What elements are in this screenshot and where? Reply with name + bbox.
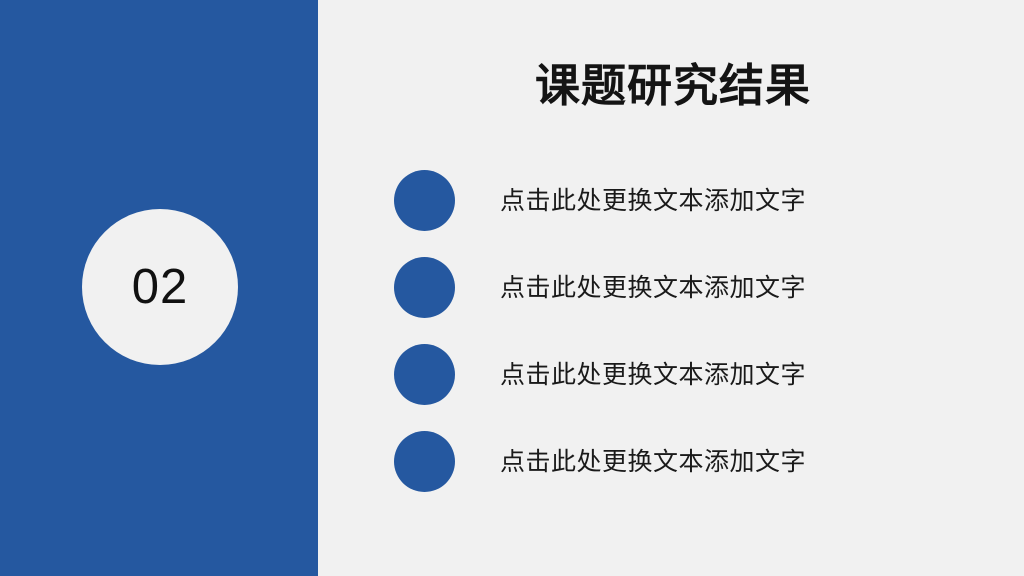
left-accent-panel: 02 — [0, 0, 318, 576]
section-number-badge: 02 — [82, 209, 238, 365]
section-number-label: 02 — [132, 263, 189, 312]
bullet-item-label: 点击此处更换文本添加文字 — [500, 273, 806, 303]
bullet-circle-icon — [394, 431, 455, 492]
bullet-item[interactable]: 点击此处更换文本添加文字 — [394, 431, 994, 492]
bullet-item-label: 点击此处更换文本添加文字 — [500, 447, 806, 477]
bullet-item[interactable]: 点击此处更换文本添加文字 — [394, 170, 994, 231]
bullet-item[interactable]: 点击此处更换文本添加文字 — [394, 257, 994, 318]
slide-title: 课题研究结果 — [535, 60, 811, 112]
bullet-circle-icon — [394, 344, 455, 405]
content-panel: 课题研究结果 点击此处更换文本添加文字 点击此处更换文本添加文字 点击此处更换文… — [318, 0, 1024, 576]
bullet-item-label: 点击此处更换文本添加文字 — [500, 360, 806, 390]
bullet-circle-icon — [394, 170, 455, 231]
bullet-item-label: 点击此处更换文本添加文字 — [500, 186, 806, 216]
presentation-slide: 02 课题研究结果 点击此处更换文本添加文字 点击此处更换文本添加文字 点击此处… — [0, 0, 1024, 576]
bullet-circle-icon — [394, 257, 455, 318]
bullet-list: 点击此处更换文本添加文字 点击此处更换文本添加文字 点击此处更换文本添加文字 点… — [394, 170, 994, 492]
bullet-item[interactable]: 点击此处更换文本添加文字 — [394, 344, 994, 405]
